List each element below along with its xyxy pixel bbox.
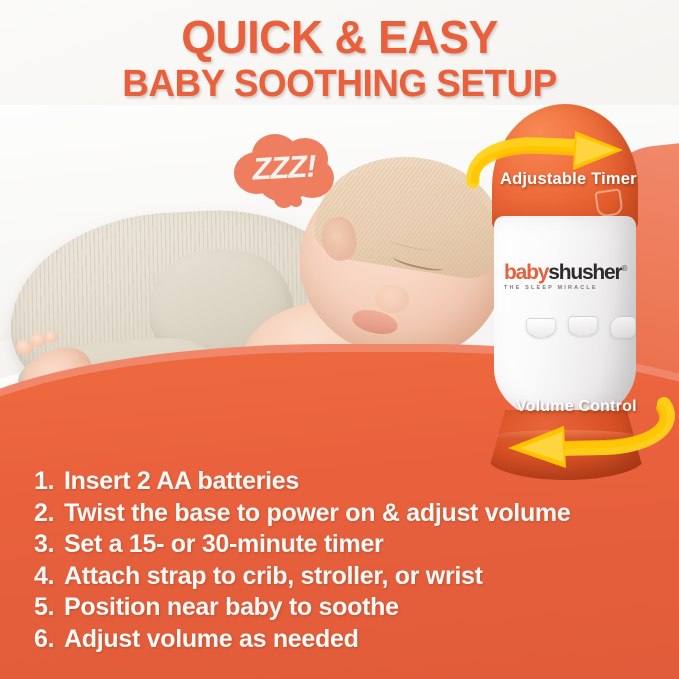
logo-baby-text: baby (504, 261, 548, 284)
list-item: 6. Adjust volume as needed (34, 624, 574, 656)
callout-adjustable-timer: Adjustable Timer (500, 170, 637, 189)
product-logo: babyshusher® THE SLEEP MIRACLE (504, 262, 632, 291)
step-text: Insert 2 AA batteries (64, 466, 299, 498)
step-text: Adjust volume as needed (64, 624, 359, 656)
infographic-canvas: ZZZ! QUICK & EASY BABY SOOTHING SETUP ba… (0, 0, 679, 679)
setup-steps-list: 1. Insert 2 AA batteries 2. Twist the ba… (34, 466, 574, 655)
product-button-center[interactable] (568, 316, 598, 336)
product-logo-wordmark: babyshusher® (504, 262, 632, 283)
list-item: 3. Set a 15- or 30-minute timer (34, 529, 574, 561)
headline-line-2: BABY SOOTHING SETUP (10, 65, 669, 103)
list-item: 5. Position near baby to soothe (34, 592, 574, 624)
step-text: Position near baby to soothe (64, 592, 399, 624)
headline-line-1: QUICK & EASY (10, 14, 669, 60)
callout-volume-control: Volume Control (516, 398, 637, 416)
headline: QUICK & EASY BABY SOOTHING SETUP (0, 14, 679, 103)
registered-mark-icon: ® (622, 264, 627, 273)
logo-shusher-text: shusher (548, 261, 621, 284)
product-body (494, 216, 636, 422)
step-number: 5. (34, 592, 64, 624)
list-item: 4. Attach strap to crib, stroller, or wr… (34, 561, 574, 593)
step-number: 4. (34, 561, 64, 593)
step-number: 2. (34, 498, 64, 530)
step-text: Set a 15- or 30-minute timer (64, 529, 383, 561)
product-logo-tagline: THE SLEEP MIRACLE (504, 285, 632, 291)
zzz-speech-bubble: ZZZ! (232, 132, 336, 204)
baby-toe (45, 331, 58, 343)
baby-toe (31, 333, 46, 347)
step-number: 3. (34, 529, 64, 561)
step-text: Attach strap to crib, stroller, or wrist (64, 561, 483, 593)
step-text: Twist the base to power on & adjust volu… (64, 498, 570, 530)
product-button-right[interactable] (610, 316, 636, 338)
bubble-tail (290, 196, 302, 207)
step-number: 6. (34, 624, 64, 656)
product-button-left[interactable] (526, 318, 556, 338)
list-item: 2. Twist the base to power on & adjust v… (34, 498, 574, 530)
zzz-text: ZZZ! (231, 147, 337, 188)
step-number: 1. (34, 466, 64, 498)
